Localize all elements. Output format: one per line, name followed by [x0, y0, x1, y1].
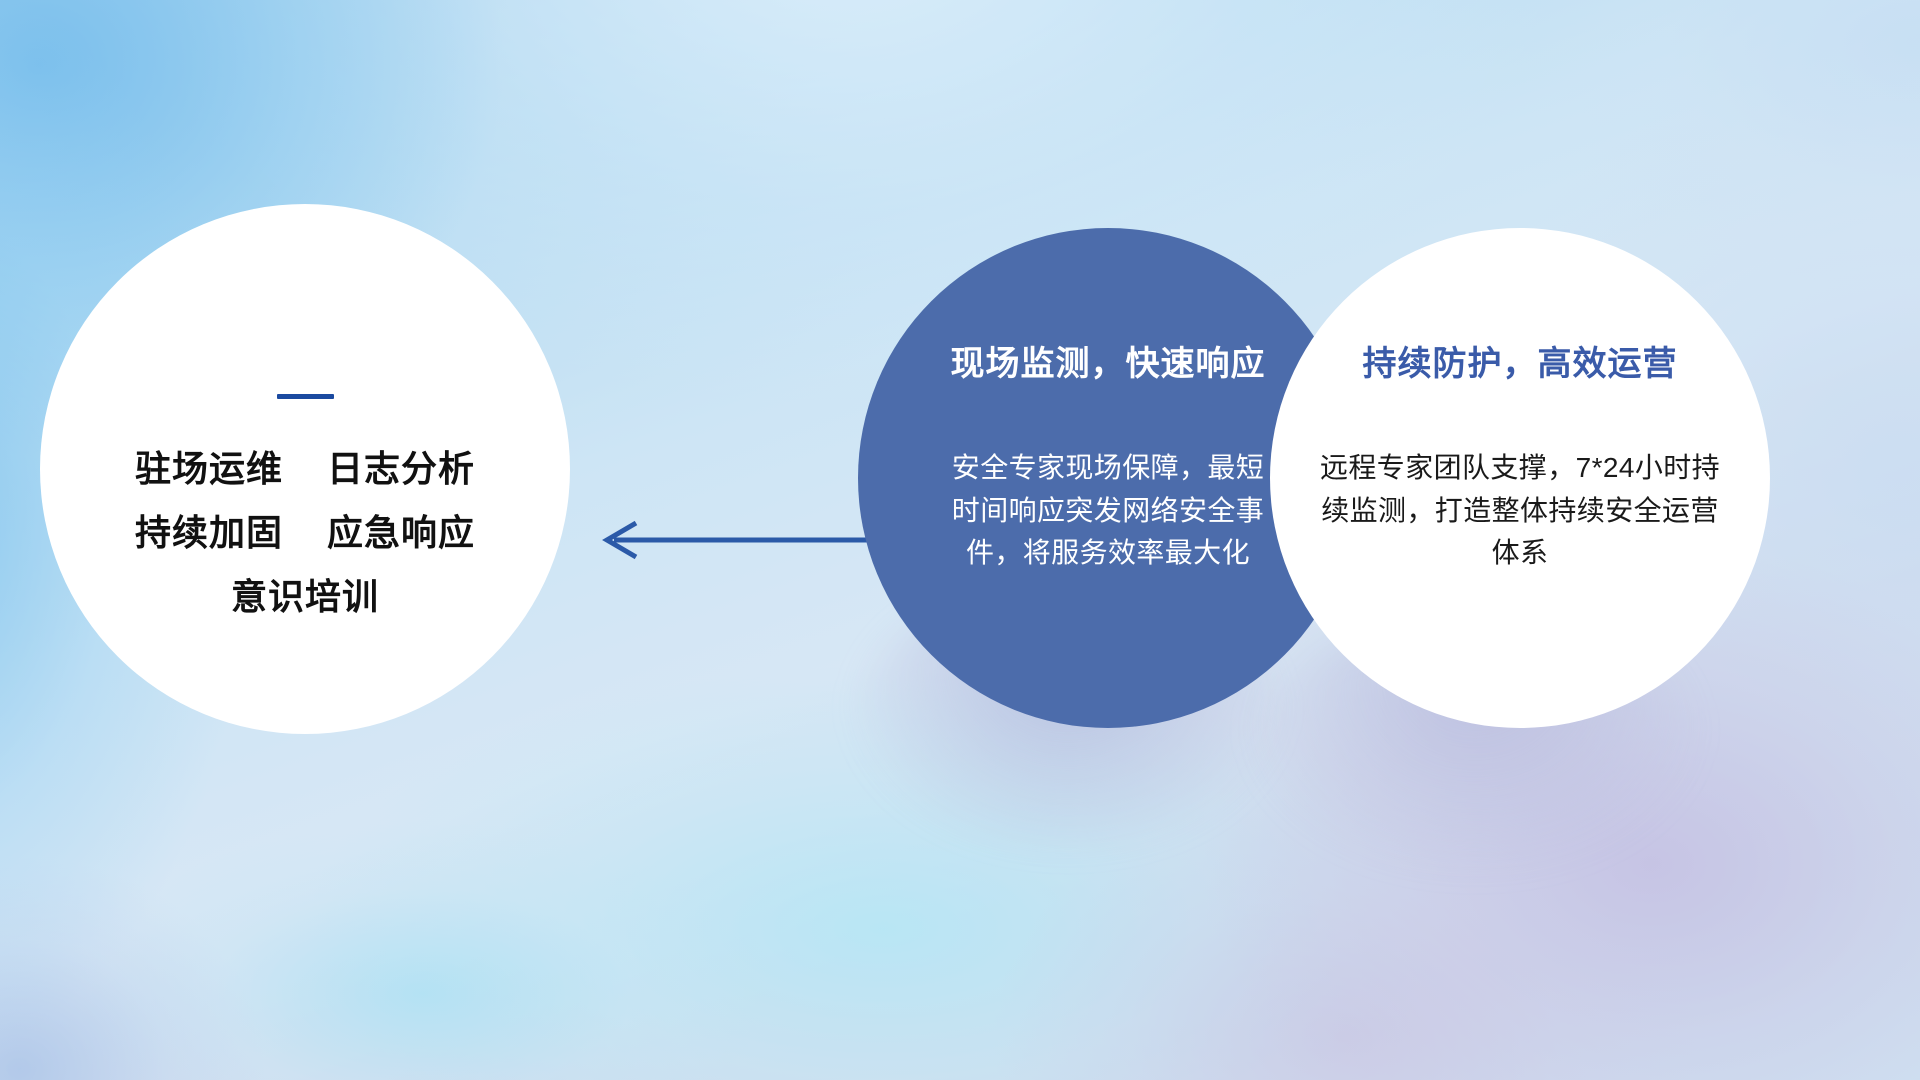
- left-circle-content: 驻场运维 日志分析 持续加固 应急响应 意识培训: [40, 394, 570, 615]
- right-circle-content: 持续防护，高效运营 远程专家团队支撑，7*24小时持续监测，打造整体持续安全运营…: [1270, 228, 1770, 575]
- right-circle-body: 远程专家团队支撑，7*24小时持续监测，打造整体持续安全运营体系: [1320, 447, 1720, 575]
- left-keyword-line-1: 驻场运维 日志分析: [135, 451, 475, 487]
- left-keyword-line-3: 意识培训: [231, 579, 379, 615]
- slide-canvas: 驻场运维 日志分析 持续加固 应急响应 意识培训 现场监测，快速响应 安全专家现…: [0, 0, 1920, 1080]
- accent-dash-divider: [277, 394, 334, 399]
- left-capability-circle[interactable]: 驻场运维 日志分析 持续加固 应急响应 意识培训: [40, 204, 570, 734]
- right-circle-title: 持续防护，高效运营: [1363, 346, 1678, 383]
- center-circle-title: 现场监测，快速响应: [951, 346, 1266, 383]
- center-circle-body: 安全专家现场保障，最短时间响应突发网络安全事件，将服务效率最大化: [943, 447, 1273, 575]
- right-operations-circle[interactable]: 持续防护，高效运营 远程专家团队支撑，7*24小时持续监测，打造整体持续安全运营…: [1270, 228, 1770, 728]
- left-keyword-line-2: 持续加固 应急响应: [135, 515, 475, 551]
